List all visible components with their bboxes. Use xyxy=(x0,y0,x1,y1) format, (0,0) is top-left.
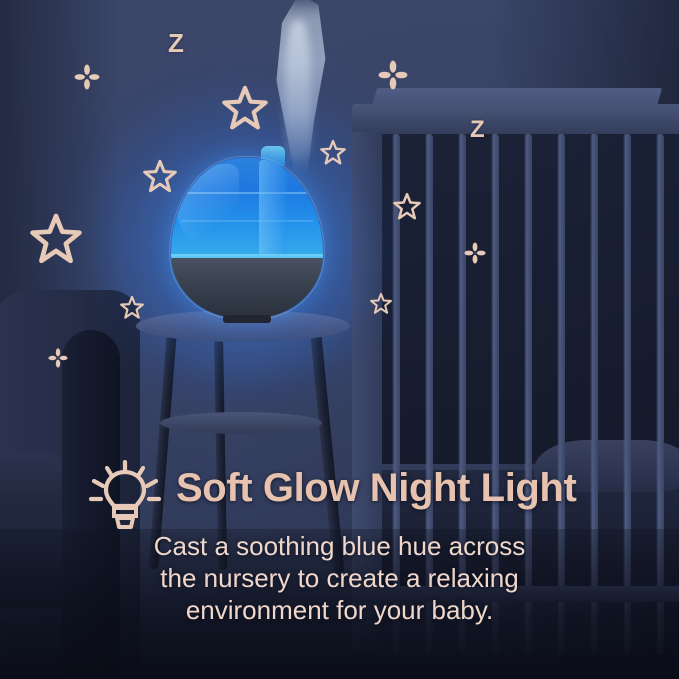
crib-top-rail xyxy=(352,104,679,134)
tank-inner-column xyxy=(259,160,287,256)
humidifier-body xyxy=(171,158,323,318)
tank-seam xyxy=(181,220,313,222)
humidifier-foot xyxy=(223,315,271,323)
mist-core xyxy=(285,20,311,160)
lightbulb-icon xyxy=(88,460,162,534)
humidifier-base xyxy=(171,258,323,318)
caption-body: Cast a soothing blue hue across the nurs… xyxy=(0,530,679,626)
caption-line: environment for your baby. xyxy=(0,594,679,626)
tank-highlight xyxy=(177,164,239,250)
teardrop-humidifier xyxy=(171,158,323,318)
z-letter-decor: Z xyxy=(470,118,485,142)
caption-line: Cast a soothing blue hue across xyxy=(0,530,679,562)
table-lower-shelf xyxy=(160,412,322,434)
caption-line: the nursery to create a relaxing xyxy=(0,562,679,594)
page-title: Soft Glow Night Light xyxy=(176,466,576,511)
tank-seam xyxy=(181,192,313,194)
water-tank xyxy=(171,158,323,262)
z-letter-decor: Z xyxy=(168,30,184,56)
product-lifestyle-scene: ZZ Soft Glow xyxy=(0,0,679,679)
